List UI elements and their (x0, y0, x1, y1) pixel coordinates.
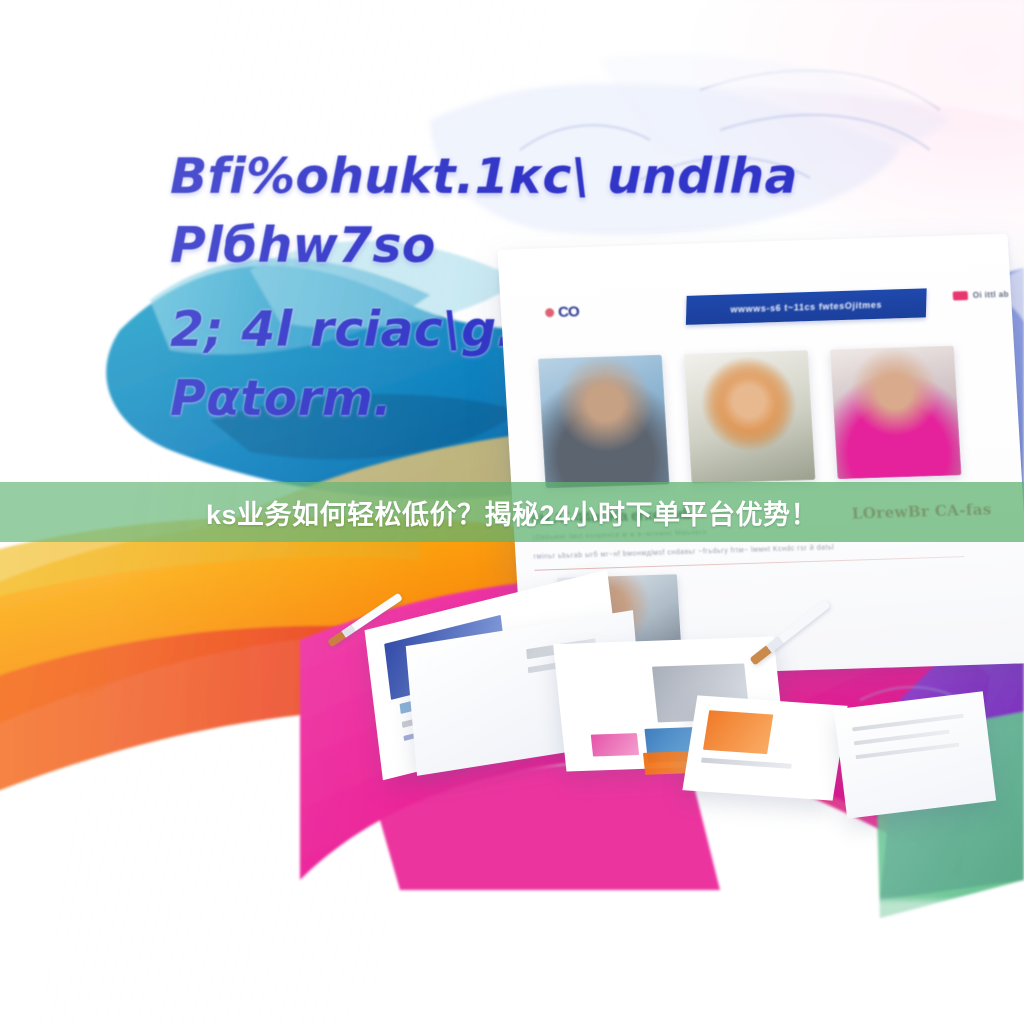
mockup-navbar-text: wwwws-s6 t~11cs fwtesOjitmes (730, 299, 882, 314)
mockup-badge-text: Oi ittl ab (973, 290, 1010, 300)
portrait-card (538, 355, 670, 489)
mockup-navbar[interactable]: wwwws-s6 t~11cs fwtesOjitmes (686, 288, 927, 325)
mockup-logo-text: CO (558, 303, 580, 321)
print-line (854, 730, 950, 746)
title-banner: ks业务如何轻松低价？揭秘24小时下单平台优势！ (0, 482, 1024, 542)
portrait-card-row (538, 344, 998, 493)
banner-title: ks业务如何轻松低价？揭秘24小时下单平台优势！ (206, 493, 818, 532)
badge-chip-icon (953, 291, 969, 300)
logo-dot-icon (545, 308, 555, 317)
print-line (852, 714, 964, 732)
print-graphic (703, 710, 773, 754)
brochure-sheet (682, 695, 847, 800)
print-line (856, 743, 960, 760)
brochure-sheet (834, 691, 996, 818)
portrait-card (684, 350, 816, 484)
print-line (701, 758, 792, 769)
mockup-badge[interactable]: Oi ittl ab (953, 290, 1010, 301)
portrait-card (830, 345, 962, 479)
mockup-logo: CO (545, 303, 580, 321)
hero-image-canvas: Bfi%ohukt.1кc\ undlha Plбhw7so 2; 4l rci… (0, 0, 1024, 1024)
print-graphic (591, 733, 639, 756)
